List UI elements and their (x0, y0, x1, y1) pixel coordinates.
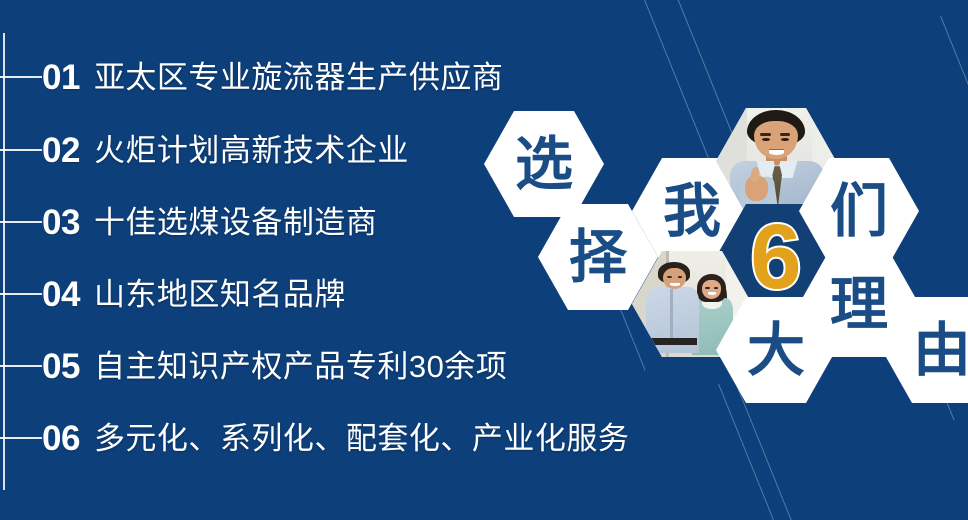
hex-xuan[interactable]: 选 (484, 111, 604, 217)
hex-you-glyph: 由 (913, 321, 968, 379)
hex-men-glyph: 们 (830, 182, 888, 240)
hex-ze-glyph: 择 (569, 228, 627, 286)
hex-da-glyph: 大 (747, 321, 805, 379)
headline-honeycomb: 选 择 我 (0, 0, 968, 520)
hex-wo-glyph: 我 (663, 182, 721, 240)
hex-xuan-glyph: 选 (515, 135, 573, 193)
hex-li-glyph: 理 (830, 275, 888, 333)
hex-six-number: 6 (750, 211, 801, 303)
poster-canvas: 01 亚太区专业旋流器生产供应商 02 火炬计划高新技术企业 03 十佳选煤设备… (0, 0, 968, 520)
